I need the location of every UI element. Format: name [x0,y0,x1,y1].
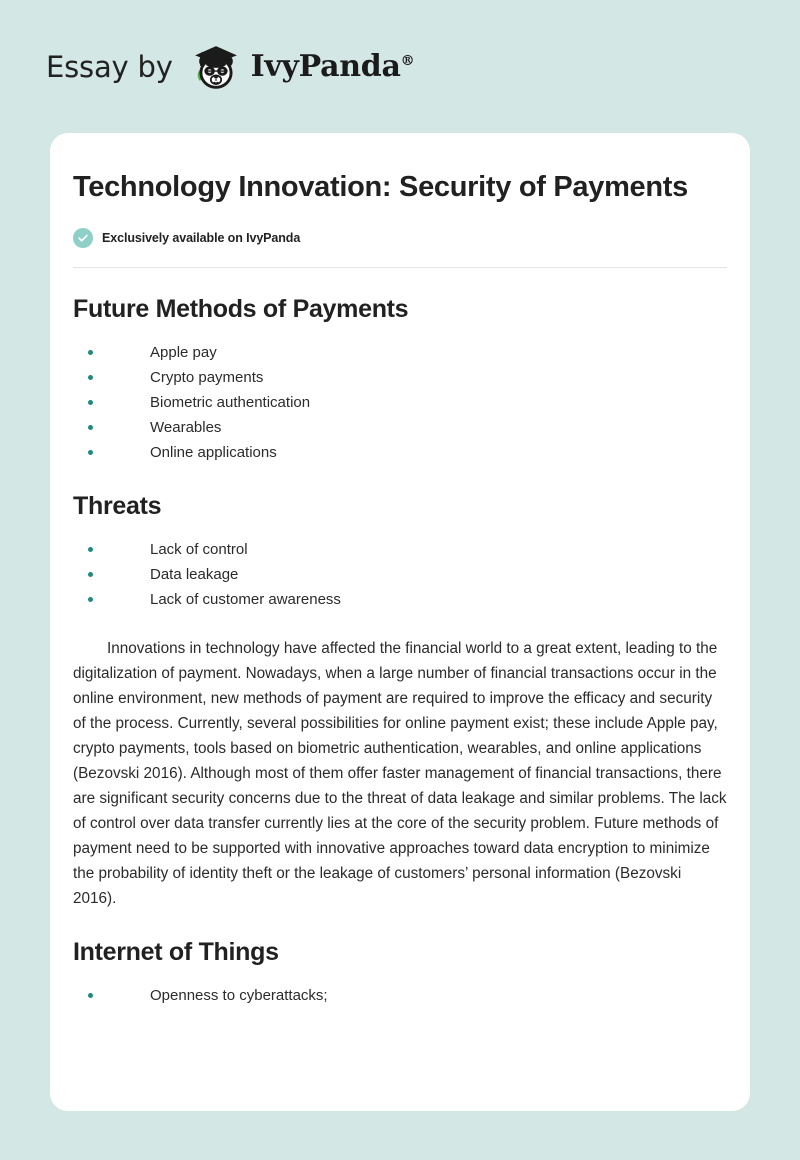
list-item: Lack of control [73,537,727,562]
essay-by-label: Essay by [46,50,173,84]
document-card: Technology Innovation: Security of Payme… [50,133,750,1111]
registered-trademark-icon: ® [401,53,415,69]
list-item: Online applications [73,440,727,465]
brand-logo[interactable]: IvyPanda® [187,38,415,96]
site-header: Essay by [0,0,800,133]
body-paragraph: Innovations in technology have affected … [73,612,727,911]
list-future-methods: Apple pay Crypto payments Biometric auth… [73,324,727,465]
list-item: Crypto payments [73,365,727,390]
brand-name: IvyPanda® [251,49,415,84]
section-heading-threats: Threats [73,465,727,521]
list-item: Openness to cyberattacks; [73,983,727,1008]
page-title: Technology Innovation: Security of Payme… [73,133,727,206]
page-root: Essay by [0,0,800,1160]
section-heading-future-methods: Future Methods of Payments [73,268,727,324]
exclusive-availability-badge: Exclusively available on IvyPanda [73,228,727,248]
list-item: Wearables [73,415,727,440]
section-heading-internet-of-things: Internet of Things [73,911,727,967]
list-threats: Lack of control Data leakage Lack of cus… [73,521,727,612]
panda-graduation-cap-logo [187,38,245,96]
list-item: Biometric authentication [73,390,727,415]
list-item: Apple pay [73,340,727,365]
list-internet-of-things: Openness to cyberattacks; [73,967,727,1008]
exclusive-label: Exclusively available on IvyPanda [102,231,300,245]
check-circle-icon [73,228,93,248]
list-item: Data leakage [73,562,727,587]
list-item: Lack of customer awareness [73,587,727,612]
